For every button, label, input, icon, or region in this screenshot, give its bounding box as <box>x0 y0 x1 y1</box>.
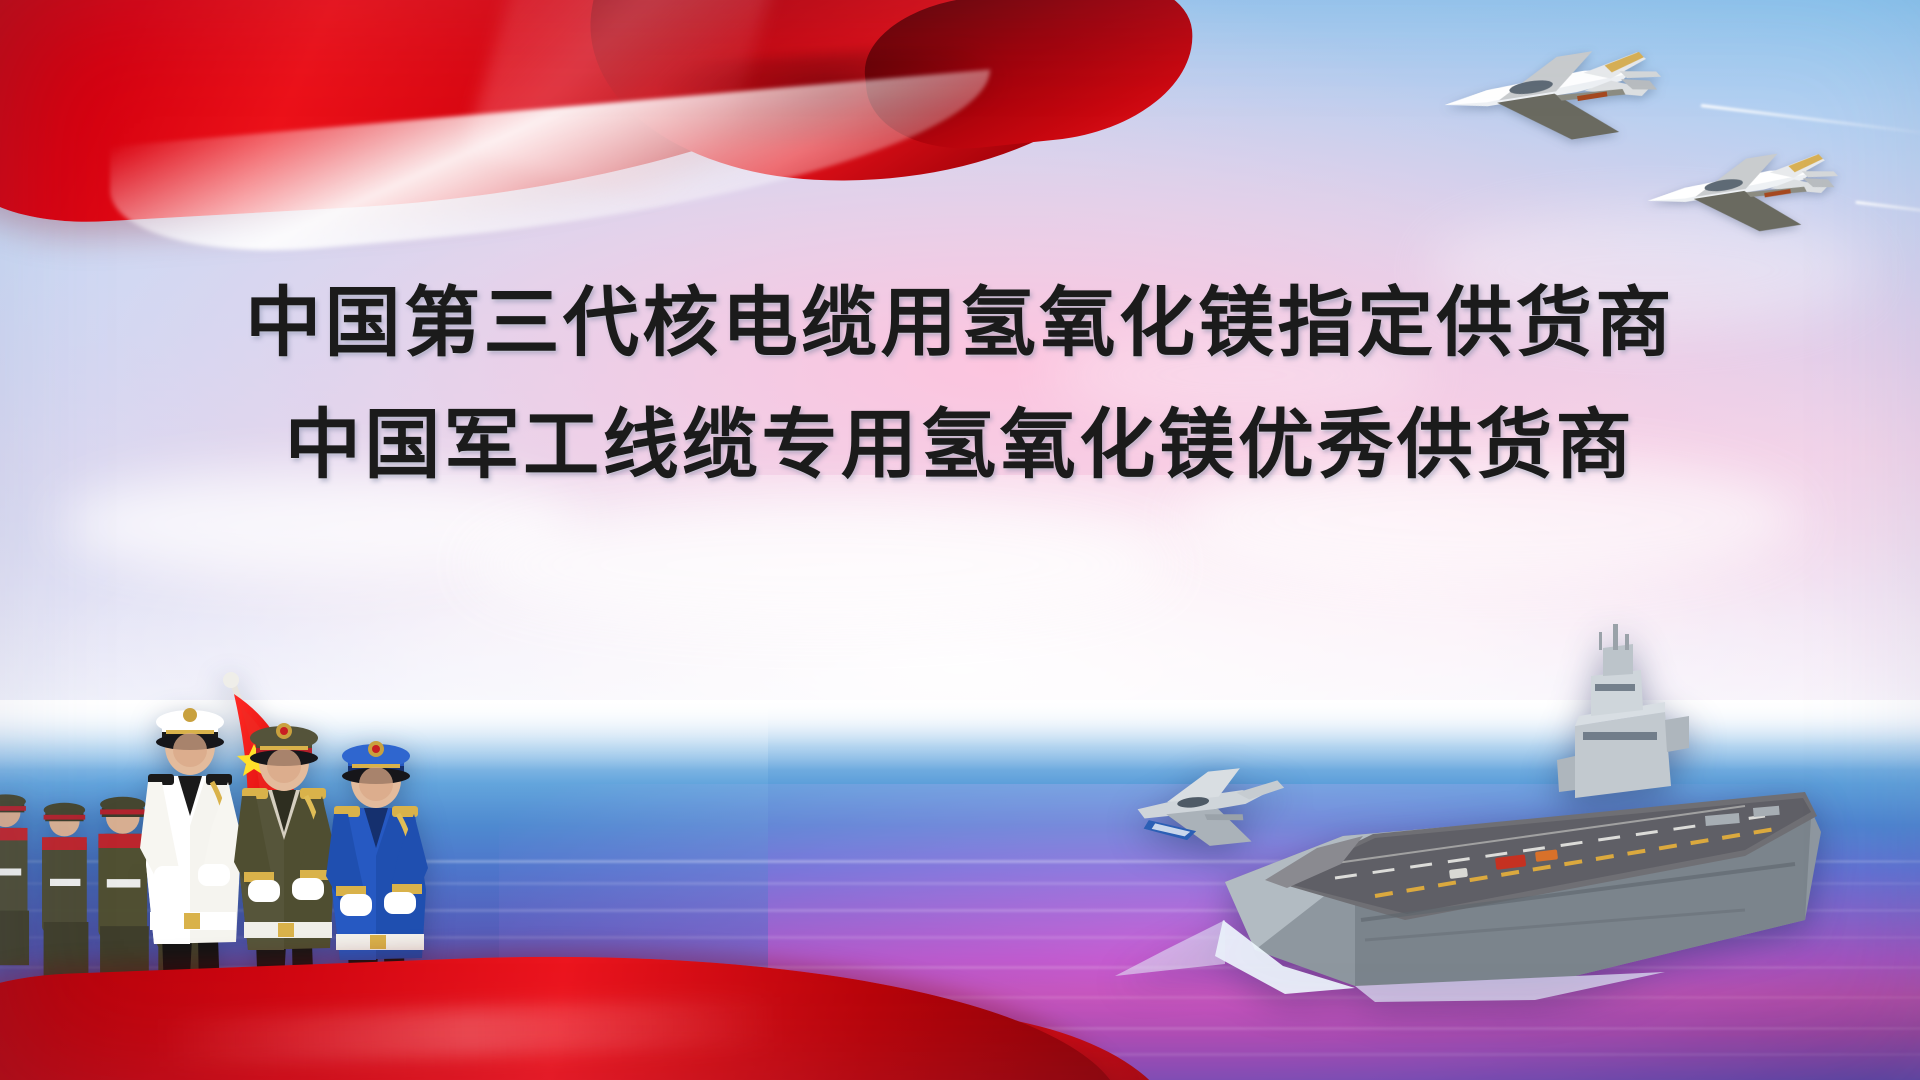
cloud <box>470 505 1170 625</box>
title-line-1: 中国第三代核电缆用氢氧化镁指定供货商 <box>0 286 1920 362</box>
title-block: 中国第三代核电缆用氢氧化镁指定供货商 中国军工线缆专用氢氧化镁优秀供货商 <box>0 286 1920 484</box>
banner-canvas: 中国第三代核电缆用氢氧化镁指定供货商 中国军工线缆专用氢氧化镁优秀供货商 <box>0 0 1920 1080</box>
title-line-2: 中国军工线缆专用氢氧化镁优秀供货商 <box>0 408 1920 484</box>
red-silk-flag <box>0 0 1140 240</box>
aircraft-carrier <box>1105 620 1825 1040</box>
